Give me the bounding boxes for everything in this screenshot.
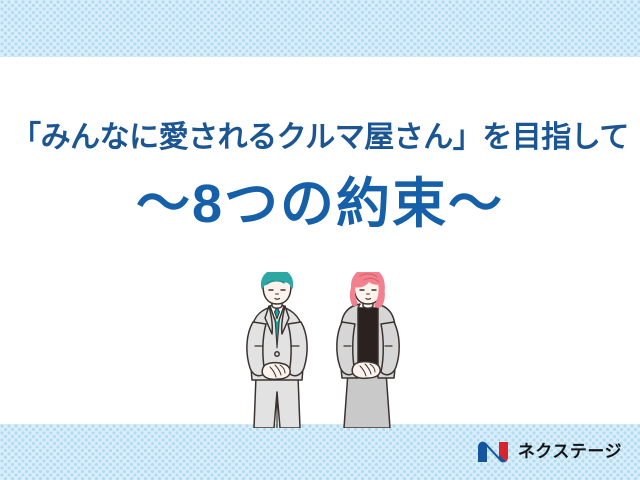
top-dot-band — [0, 0, 640, 57]
nextage-logo: ネクステージ — [477, 437, 622, 467]
headline-line-2: 〜8つの約束〜 — [0, 174, 640, 234]
headline-line-1: 「みんなに愛されるクルマ屋さん」を目指して — [0, 118, 640, 158]
headline-block: 「みんなに愛されるクルマ屋さん」を目指して 〜8つの約束〜 — [0, 118, 640, 234]
nextage-n-mark-icon — [477, 440, 511, 464]
male-staff-figure — [247, 272, 307, 428]
nextage-logo-text: ネクステージ — [518, 440, 622, 464]
bowing-staff-illustration — [232, 272, 412, 428]
promo-slide: 「みんなに愛されるクルマ屋さん」を目指して 〜8つの約束〜 — [0, 0, 640, 480]
female-staff-figure — [337, 272, 399, 428]
